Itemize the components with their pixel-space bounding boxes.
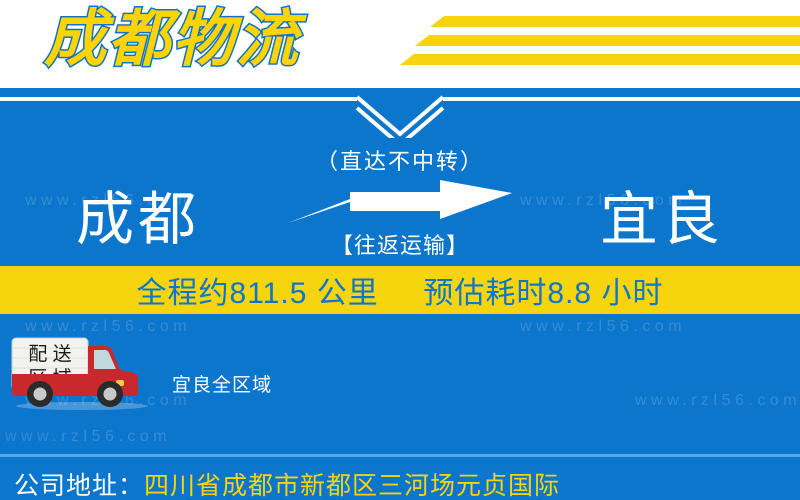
roundtrip-note: 【往返运输】 <box>0 228 800 260</box>
divider-rule-left <box>0 97 357 101</box>
delivery-area-text: 宜良全区域 <box>172 370 272 397</box>
metrics-band: 全程约811.5 公里 预估耗时8.8 小时 <box>0 266 800 314</box>
decorative-stripes <box>400 14 800 76</box>
footer-address-label: 公司地址： <box>14 472 144 500</box>
stripe-1 <box>430 16 800 27</box>
watermark: www.rzl56.com <box>5 428 171 446</box>
footer-address-value: 四川省成都市新都区三河场元贞国际 <box>144 472 560 500</box>
logistics-banner: 成都物流 www.rzl56.com www.rzl56.com www.rzl… <box>0 0 800 500</box>
bidirectional-arrow-icon <box>288 180 512 226</box>
delivery-truck-icon: 配 送 区 域 <box>8 334 156 412</box>
main-body: www.rzl56.com www.rzl56.com www.rzl56.co… <box>0 88 800 500</box>
divider-rule-right <box>443 97 800 101</box>
brand-logo-text: 成都物流 <box>44 4 300 76</box>
watermark: www.rzl56.com <box>520 318 686 336</box>
stripe-2 <box>415 35 800 46</box>
metrics-text: 全程约811.5 公里 预估耗时8.8 小时 <box>137 268 664 312</box>
duration-text: 预估耗时8.8 小时 <box>423 277 663 310</box>
chevron-down-icon <box>352 94 448 138</box>
truck-box-label-line1: 配 送 <box>28 343 71 365</box>
footer-divider <box>0 454 800 457</box>
watermark: www.rzl56.com <box>635 392 800 410</box>
footer-address-row: 公司地址：四川省成都市新都区三河场元贞国际 <box>14 466 560 500</box>
distance-text: 全程约811.5 公里 <box>137 277 379 310</box>
stripe-3 <box>400 54 800 65</box>
header-strip: 成都物流 <box>0 0 800 88</box>
